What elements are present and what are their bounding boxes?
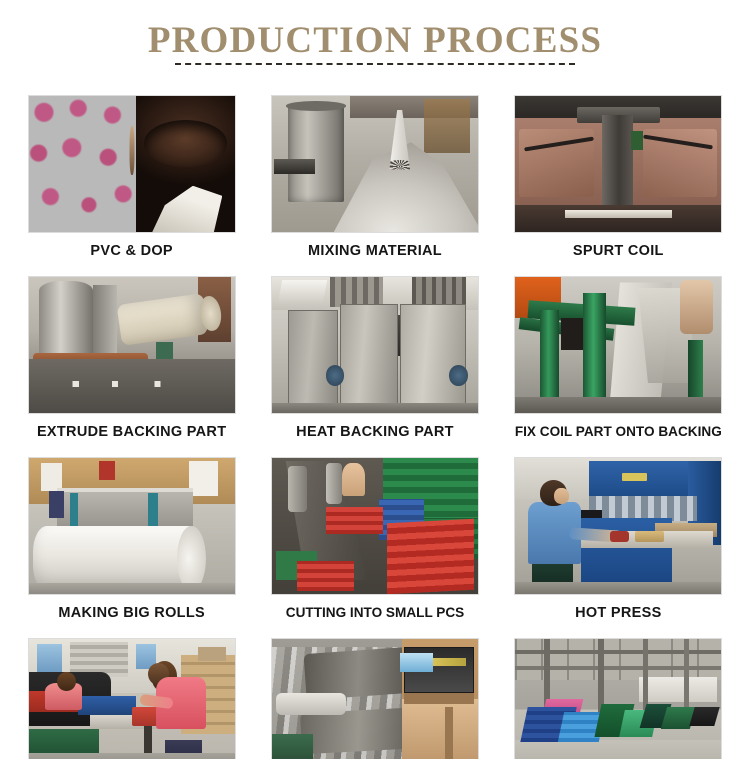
cuttingedge-blue-stack-art (78, 696, 136, 715)
process-caption-3: SPURT COIL (573, 243, 664, 259)
packing-light-roll-art (276, 693, 346, 715)
process-image-hot-press[interactable] (514, 457, 722, 595)
heat-handwheel-1-art (326, 365, 345, 385)
storing-column-4-art (684, 639, 689, 710)
process-step-2[interactable]: MIXING MATERIAL (257, 92, 492, 273)
bigrolls-window-1-art (41, 463, 62, 490)
process-image-packing[interactable] (271, 638, 479, 759)
heat-floor-art (272, 403, 478, 413)
process-image-storing[interactable] (514, 638, 722, 759)
process-grid: PVC & DOP MIXING MATERIAL (14, 92, 736, 759)
process-step-6[interactable]: FIX COIL PART ONTO BACKING (501, 273, 736, 454)
hotpress-glove-art (610, 531, 629, 542)
process-image-pvc-dop[interactable] (28, 95, 236, 233)
process-image-mixing-material[interactable] (271, 95, 479, 233)
process-step-7[interactable]: MAKING BIG ROLLS (14, 454, 249, 635)
process-caption-6: FIX COIL PART ONTO BACKING (515, 424, 722, 439)
process-step-3[interactable]: SPURT COIL (501, 92, 736, 273)
cuttingedge-floor-art (29, 753, 235, 759)
process-step-11[interactable]: PACKING (257, 635, 492, 759)
cutting-red-stack-low-art (297, 561, 355, 591)
cuttingedge-worker-1-head-art (57, 672, 76, 691)
process-image-fix-coil-onto-backing[interactable] (514, 276, 722, 414)
process-caption-9: HOT PRESS (575, 605, 662, 621)
mixing-tank-top-art (286, 101, 346, 111)
cuttingedge-window-1-art (37, 644, 62, 671)
cuttingedge-carton-top-art (198, 647, 227, 661)
cutting-roller-1-art (288, 466, 307, 512)
fixcoil-post-1-art (540, 310, 559, 405)
production-process-page: PRODUCTION PROCESS PVC & DOP (0, 0, 750, 759)
mixing-pipe-art (274, 159, 315, 174)
page-title-block: PRODUCTION PROCESS (0, 20, 750, 62)
packing-carton-seam-art (445, 707, 453, 759)
vat-drip-art (129, 126, 134, 175)
cutting-worker-art (342, 463, 365, 496)
packing-green-floor-art (272, 734, 313, 759)
storing-floor-art (515, 740, 721, 759)
hotpress-yellow-label-art (622, 473, 647, 481)
hotpress-pad-art (635, 531, 664, 542)
process-image-heat-backing-part[interactable] (271, 276, 479, 414)
hotpress-worker-face-art (554, 488, 568, 504)
process-image-making-big-rolls[interactable] (28, 457, 236, 595)
packing-carton-art (402, 699, 478, 759)
cutting-roller-2-art (326, 463, 342, 504)
heat-cabinet-3-art (400, 304, 466, 405)
bigrolls-roll-end-art (177, 526, 206, 591)
process-image-cutting-into-small-pcs[interactable] (271, 457, 479, 595)
page-title: PRODUCTION PROCESS (148, 20, 602, 62)
fixcoil-roll-art (680, 280, 713, 334)
process-caption-7: MAKING BIG ROLLS (58, 605, 205, 621)
process-step-5[interactable]: HEAT BACKING PART (257, 273, 492, 454)
packing-carton-flap-art (404, 693, 474, 704)
spurt-rail-art (565, 210, 672, 218)
process-image-spurt-coil[interactable] (514, 95, 722, 233)
extrude-floor-art (29, 359, 235, 413)
extrude-tank-art (39, 281, 93, 363)
extrude-tank-secondary-art (93, 285, 118, 356)
process-step-12[interactable]: STORING (501, 635, 736, 759)
process-step-4[interactable]: EXTRUDE BACKING PART (14, 273, 249, 454)
bigrolls-red-object-art (99, 461, 115, 480)
process-caption-5: HEAT BACKING PART (296, 424, 454, 440)
hotpress-floor-art (515, 582, 721, 594)
mixing-rust-art (424, 99, 469, 153)
process-step-1[interactable]: PVC & DOP (14, 92, 249, 273)
fixcoil-floor-art (515, 397, 721, 413)
heat-cabinet-1-art (288, 310, 337, 405)
spurt-green-part-art (631, 131, 643, 150)
process-image-extrude-backing-part[interactable] (28, 276, 236, 414)
heat-mechanism-right-art (412, 277, 466, 304)
storing-back-opening-art (639, 677, 717, 701)
process-caption-2: MIXING MATERIAL (308, 243, 442, 259)
heat-mechanism-left-art (330, 277, 384, 307)
process-caption-4: EXTRUDE BACKING PART (37, 424, 226, 440)
bigrolls-floor-art (29, 583, 235, 594)
spurt-column-art (602, 115, 633, 213)
bigrolls-worker-art (49, 491, 63, 518)
heat-duct-art (278, 280, 328, 304)
heat-handwheel-2-art (449, 365, 468, 385)
heat-cabinet-2-art (340, 304, 398, 405)
process-step-8[interactable]: CUTTING INTO SMALL PCS (257, 454, 492, 635)
title-divider (175, 63, 575, 65)
cutting-red-stack-large-art (387, 518, 474, 593)
process-step-9[interactable]: HOT PRESS (501, 454, 736, 635)
fixcoil-post-2-art (583, 293, 606, 407)
packing-bag-label-art (400, 653, 433, 672)
bigrolls-window-2-art (189, 461, 218, 496)
process-step-10[interactable]: CUTTING EDGE (14, 635, 249, 759)
cutting-red-stack-mid-art (326, 507, 384, 534)
storing-column-3-art (643, 639, 648, 712)
mixing-tank-art (288, 104, 344, 202)
process-image-cutting-edge[interactable] (28, 638, 236, 759)
packing-bag-text-art (433, 658, 466, 666)
process-caption-8: CUTTING INTO SMALL PCS (286, 605, 464, 620)
pvc-sacks-art (29, 96, 136, 232)
process-caption-1: PVC & DOP (90, 243, 172, 259)
spurt-base-art (515, 205, 721, 232)
